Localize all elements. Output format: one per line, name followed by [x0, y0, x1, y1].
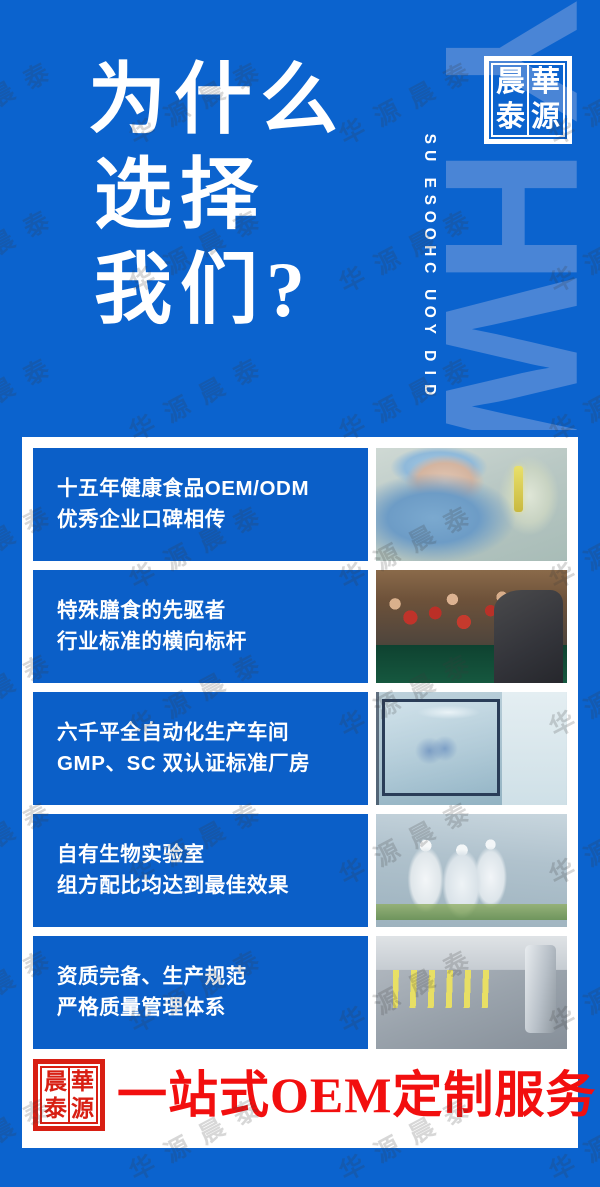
seal-char-1: 晨: [42, 1068, 69, 1095]
feature-line-1: 十五年健康食品OEM/ODM: [57, 477, 368, 501]
vertical-caption-letter: H: [421, 243, 437, 259]
feature-card-text: 特殊膳食的先驱者行业标准的横向标杆: [33, 570, 368, 683]
seal-char-2: 華: [528, 65, 563, 100]
feature-line-2: 优秀企业口碑相传: [57, 508, 368, 532]
watermark-text: 华 源 晨 泰: [122, 0, 268, 4]
footer-slogan: 一站式OEM定制服务: [117, 1070, 596, 1120]
vertical-caption-letter: S: [421, 192, 437, 208]
vertical-caption-letter: O: [421, 304, 437, 320]
brand-seal-header-icon: 晨 華 泰 源: [484, 56, 572, 144]
photo-surface: [376, 448, 567, 561]
feature-card-text: 十五年健康食品OEM/ODM优秀企业口碑相传: [33, 448, 368, 561]
vertical-caption-letter: C: [421, 260, 437, 276]
vertical-caption-letter: I: [421, 365, 437, 381]
watermark-text: 华 源 晨 泰: [0, 200, 58, 301]
feature-card: 自有生物实验室组方配比均达到最佳效果: [33, 814, 567, 927]
packaging-line-workers-photo: [376, 814, 567, 927]
feature-card-text: 资质完备、生产规范严格质量管理体系: [33, 936, 368, 1049]
photo-surface: [376, 570, 567, 683]
feature-card: 六千平全自动化生产车间GMP、SC 双认证标准厂房: [33, 692, 567, 805]
promotional-poster: Y H W DID YOU CHOOSE US 为什么 选择 我们? 晨 華 泰…: [0, 0, 600, 1187]
seal-char-1: 晨: [493, 65, 528, 100]
headline-line-1: 为什么: [88, 52, 346, 147]
seal-char-3: 泰: [493, 100, 528, 135]
why-letter-w: W: [430, 278, 600, 430]
photo-surface: [376, 814, 567, 927]
blister-pack-machine-photo: [376, 936, 567, 1049]
vertical-caption-letter: O: [421, 226, 437, 242]
feature-line-2: 严格质量管理体系: [57, 996, 368, 1020]
watermark-tile: 华 源 晨 泰: [90, 0, 300, 28]
seal-char-2: 華: [69, 1068, 96, 1095]
photo-surface: [376, 936, 567, 1049]
watermark-tile: 华 源 晨 泰: [510, 0, 600, 28]
watermark-tile: 华 源 晨 泰: [0, 28, 90, 176]
seal-char-4: 源: [69, 1095, 96, 1122]
feature-card: 资质完备、生产规范严格质量管理体系: [33, 936, 567, 1049]
brand-seal-footer-icon: 晨 華 泰 源: [33, 1059, 105, 1131]
watermark-text: 华 源 晨 泰: [0, 0, 58, 4]
headline-line-3: 我们?: [88, 242, 346, 337]
vertical-caption-letter: D: [421, 382, 437, 398]
feature-card-list: 十五年健康食品OEM/ODM优秀企业口碑相传特殊膳食的先驱者行业标准的横向标杆六…: [33, 448, 567, 1058]
watermark-text: 华 源 晨 泰: [542, 200, 600, 301]
watermark-text: 华 源 晨 泰: [332, 52, 478, 153]
watermark-text: 华 源 晨 泰: [122, 348, 268, 449]
cleanroom-corridor-photo: [376, 692, 567, 805]
feature-line-2: GMP、SC 双认证标准厂房: [57, 752, 368, 776]
vertical-caption-letter: Y: [421, 321, 437, 337]
feature-line-1: 资质完备、生产规范: [57, 965, 368, 989]
footer-banner: 晨 華 泰 源 一站式OEM定制服务: [33, 1054, 567, 1136]
feature-card-text: 自有生物实验室组方配比均达到最佳效果: [33, 814, 368, 927]
lab-technician-photo: [376, 448, 567, 561]
feature-line-2: 组方配比均达到最佳效果: [57, 874, 368, 898]
feature-line-1: 六千平全自动化生产车间: [57, 721, 368, 745]
watermark-tile: 华 源 晨 泰: [510, 176, 600, 324]
content-panel: 十五年健康食品OEM/ODM优秀企业口碑相传特殊膳食的先驱者行业标准的横向标杆六…: [22, 437, 578, 1148]
watermark-tile: 华 源 晨 泰: [300, 0, 510, 28]
photo-surface: [376, 692, 567, 805]
watermark-text: 华 源 晨 泰: [542, 0, 600, 4]
watermark-text: 华 源 晨 泰: [332, 200, 478, 301]
page-title: 为什么 选择 我们?: [88, 52, 346, 337]
watermark-text: 华 源 晨 泰: [332, 0, 478, 4]
vertical-caption-letter: S: [421, 131, 437, 147]
feature-card-text: 六千平全自动化生产车间GMP、SC 双认证标准厂房: [33, 692, 368, 805]
vertical-caption-letter: O: [421, 209, 437, 225]
seal-divider: [527, 65, 529, 135]
feature-card: 特殊膳食的先驱者行业标准的横向标杆: [33, 570, 567, 683]
vertical-caption-letter: U: [421, 148, 437, 164]
watermark-tile: 华 源 晨 泰: [0, 0, 90, 28]
watermark-text: 华 源 晨 泰: [0, 348, 58, 449]
watermark-text: 华 源 晨 泰: [0, 52, 58, 153]
vertical-caption: DID YOU CHOOSE US: [414, 18, 444, 398]
watermark-tile: 华 源 晨 泰: [0, 176, 90, 324]
conference-audience-photo: [376, 570, 567, 683]
watermark-text: 华 源 晨 泰: [542, 348, 600, 449]
headline-line-2: 选择: [88, 147, 346, 242]
feature-line-1: 特殊膳食的先驱者: [57, 599, 368, 623]
watermark-text: 华 源 晨 泰: [332, 348, 478, 449]
seal-char-3: 泰: [42, 1095, 69, 1122]
why-letter-h: H: [430, 148, 600, 281]
seal-char-4: 源: [528, 100, 563, 135]
feature-card: 十五年健康食品OEM/ODM优秀企业口碑相传: [33, 448, 567, 561]
feature-line-1: 自有生物实验室: [57, 843, 368, 867]
feature-line-2: 行业标准的横向标杆: [57, 630, 368, 654]
seal-divider: [68, 1068, 70, 1122]
